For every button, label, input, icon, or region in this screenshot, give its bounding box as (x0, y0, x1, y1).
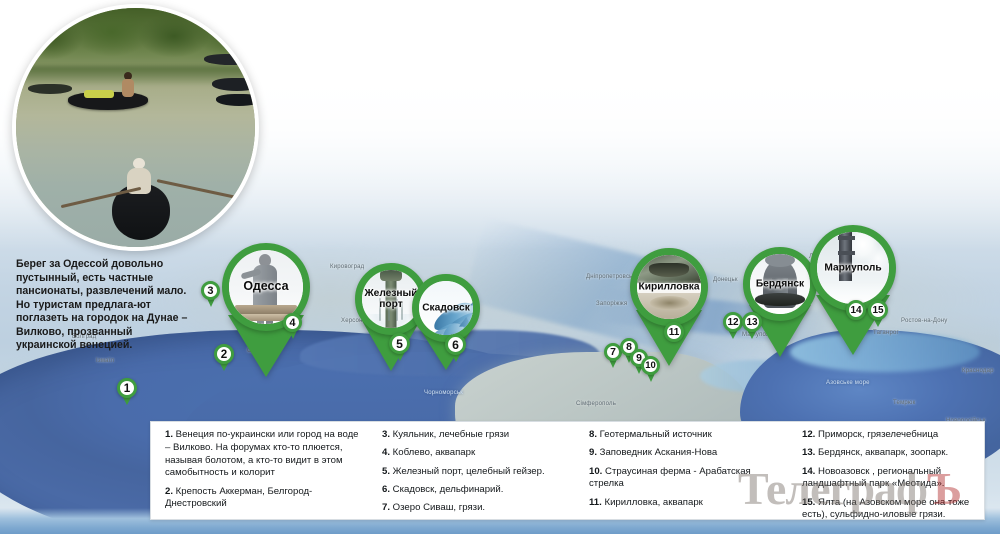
marker-label: Кирилловка (637, 281, 701, 292)
infographic-map: ОдесаОдессаМиколаївКировоградХерсонКриви… (0, 0, 1000, 534)
pin-2[interactable]: 2 (214, 344, 234, 364)
legend-item: 5. Железный порт, целебный гейзер. (382, 466, 567, 479)
legend-item: 14. Новоазовск , региональный ландшафтны… (802, 466, 976, 492)
legend-item: 12. Приморск, грязелечебница (802, 429, 976, 442)
pin-number: 12 (723, 312, 743, 332)
marker-berdyansk[interactable]: Бердянск (743, 247, 817, 321)
marker-label: Мариуполь (817, 262, 889, 273)
legend-item: 3. Куяльник, лечебные грязи (382, 429, 567, 442)
pin-13[interactable]: 13 (742, 312, 762, 332)
pin-number: 4 (283, 313, 302, 332)
pin-number: 15 (868, 300, 888, 320)
legend-item: 6. Скадовск, дельфинарий. (382, 484, 567, 497)
pin-number: 10 (641, 356, 660, 375)
photo-caption: Берег за Одессой довольно пустынный, ест… (16, 258, 192, 353)
photo-vilkovo-boats (12, 4, 259, 251)
pin-number: 1 (117, 378, 137, 398)
pin-4[interactable]: 4 (283, 313, 302, 332)
legend-item: 9. Заповедник Аскания-Нова (589, 447, 780, 460)
pin-number: 13 (742, 312, 762, 332)
pin-number: 2 (214, 344, 234, 364)
legend-column-1: 1. Венеция по-украински или город на вод… (151, 429, 368, 519)
marker-label: Скадовск (419, 302, 473, 313)
marker-head: Бердянск (743, 247, 817, 321)
marker-label: Бердянск (750, 278, 810, 289)
marker-skadovsk[interactable]: Скадовск (412, 274, 480, 342)
legend-item: 2. Крепость Аккерман, Белгород-Днестровс… (165, 486, 360, 512)
photo-boat-cargo (84, 90, 114, 98)
marker-head: Кирилловка (630, 248, 708, 326)
pin-6[interactable]: 6 (445, 334, 466, 355)
pin-number: 3 (201, 281, 220, 300)
legend-item: 10. Страусиная ферма - Арабатская стрелк… (589, 466, 780, 492)
marker-head: Скадовск (412, 274, 480, 342)
legend-item: 8. Геотермальный источник (589, 429, 780, 442)
marker-kyrylivka[interactable]: Кирилловка (630, 248, 708, 326)
marker-head: Мариуполь (810, 225, 896, 311)
legend-item: 13. Бердянск, аквапарк, зоопарк. (802, 447, 976, 460)
pin-number: 14 (846, 300, 866, 320)
pin-1[interactable]: 1 (117, 378, 137, 398)
legend-column-3: 8. Геотермальный источник9. Заповедник А… (575, 429, 788, 519)
pin-5[interactable]: 5 (389, 333, 410, 354)
photo-boat (216, 94, 259, 106)
pin-number: 5 (389, 333, 410, 354)
photo-boat (28, 84, 72, 94)
pin-10[interactable]: 10 (641, 356, 660, 375)
legend-panel: 1. Венеция по-украински или город на вод… (150, 421, 985, 520)
legend-column-4: 12. Приморск, грязелечебница13. Бердянск… (788, 429, 984, 519)
legend-item: 15. Ялта (на Азовском море она тоже есть… (802, 497, 976, 523)
pin-number: 6 (445, 334, 466, 355)
marker-mariupol[interactable]: Мариуполь (810, 225, 896, 311)
pin-number: 11 (664, 322, 684, 342)
photo-standing-man (122, 72, 134, 96)
photo-boat (212, 78, 259, 91)
legend-item: 1. Венеция по-украински или город на вод… (165, 429, 360, 480)
pin-11[interactable]: 11 (664, 322, 684, 342)
pin-12[interactable]: 12 (723, 312, 743, 332)
legend-item: 7. Озеро Сиваш, грязи. (382, 502, 567, 515)
pin-14[interactable]: 14 (846, 300, 866, 320)
pin-15[interactable]: 15 (868, 300, 888, 320)
marker-label: Одесса (229, 280, 303, 294)
legend-item: 11. Кирилловка, аквапарк (589, 497, 780, 510)
pin-3[interactable]: 3 (201, 281, 220, 300)
legend-item: 4. Коблево, аквапарк (382, 447, 567, 460)
legend-column-2: 3. Куяльник, лечебные грязи4. Коблево, а… (368, 429, 575, 519)
photo-boat (204, 54, 256, 65)
